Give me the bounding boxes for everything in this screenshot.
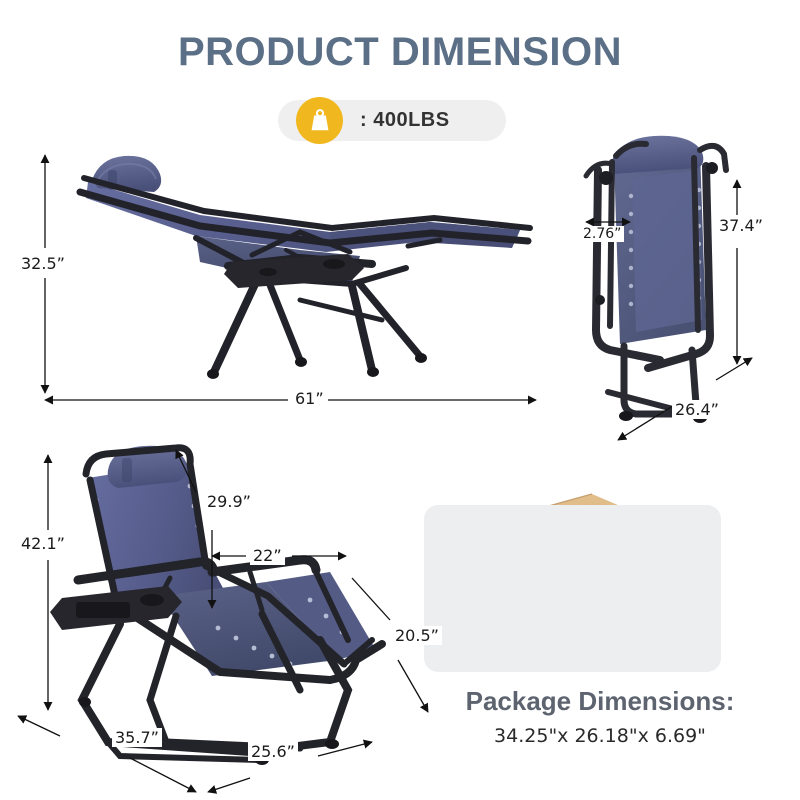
dimension-label-overall-depth: 35.7” <box>112 728 162 747</box>
weight-capacity-label: : 400LBS <box>360 100 450 141</box>
page-title: PRODUCT DIMENSION <box>0 30 800 75</box>
dimension-label-folded-thickness: 2.76” <box>580 226 624 242</box>
package-image-panel <box>424 505 721 672</box>
dimension-label-seat-depth: 20.5” <box>392 626 442 645</box>
dimension-label-folded-depth: 26.4” <box>672 400 722 419</box>
headrest-pillow <box>92 156 161 192</box>
headrest-pillow <box>108 446 187 488</box>
reclined-chair-dimension-lines <box>45 155 536 400</box>
reclined-chair-illustration <box>80 156 530 379</box>
dimension-label-upright-height: 42.1” <box>18 534 68 553</box>
dimension-label-armrest-width: 22” <box>250 546 285 565</box>
package-dimensions-value: 34.25"x 26.18"x 6.69" <box>410 725 790 747</box>
dimension-label-folded-height: 37.4” <box>716 216 766 235</box>
infographic-canvas: PRODUCT DIMENSION : 400LBS <box>0 0 800 800</box>
package-dimensions-heading: Package Dimensions: <box>410 686 790 717</box>
dimension-label-reclined-height: 32.5” <box>18 254 68 273</box>
side-tray-table <box>50 586 182 630</box>
side-tray-table <box>224 254 364 288</box>
weight-icon <box>296 97 343 144</box>
folded-chair-illustration <box>586 136 726 423</box>
dimension-label-overall-width: 25.6” <box>248 742 298 761</box>
dimension-label-backrest-height: 29.9” <box>204 492 254 511</box>
dimension-label-reclined-length: 61” <box>292 389 327 408</box>
